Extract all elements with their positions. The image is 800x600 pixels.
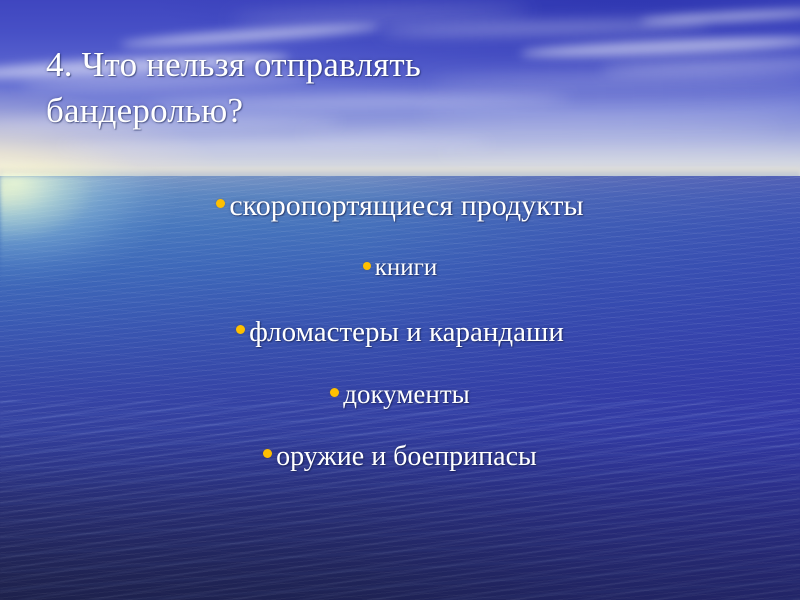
list-item: книги <box>40 251 760 285</box>
list-item-label: скоропортящиеся продукты <box>229 186 583 226</box>
bullet-list: скоропортящиеся продукты книги фломастер… <box>40 186 760 476</box>
slide-title-line-1: 4. Что нельзя отправлять <box>46 42 746 88</box>
list-item: оружие и боеприпасы <box>40 438 760 476</box>
list-item: документы <box>40 376 760 412</box>
bullet-dot-icon <box>330 388 339 397</box>
list-item-label: оружие и боеприпасы <box>276 438 537 476</box>
slide-title-line-2: бандеролью? <box>46 88 746 134</box>
list-item: фломастеры и карандаши <box>40 313 760 352</box>
list-item-label: фломастеры и карандаши <box>249 313 564 352</box>
slide-content: 4. Что нельзя отправлять бандеролью? ско… <box>0 0 800 600</box>
slide-title: 4. Что нельзя отправлять бандеролью? <box>46 42 746 134</box>
list-item: скоропортящиеся продукты <box>40 186 760 226</box>
list-item-label: документы <box>343 376 470 412</box>
list-item-label: книги <box>375 251 438 285</box>
presentation-slide: 4. Что нельзя отправлять бандеролью? ско… <box>0 0 800 600</box>
bullet-dot-icon <box>363 262 371 270</box>
bullet-dot-icon <box>236 325 245 334</box>
bullet-dot-icon <box>263 449 272 458</box>
bullet-dot-icon <box>216 199 225 208</box>
